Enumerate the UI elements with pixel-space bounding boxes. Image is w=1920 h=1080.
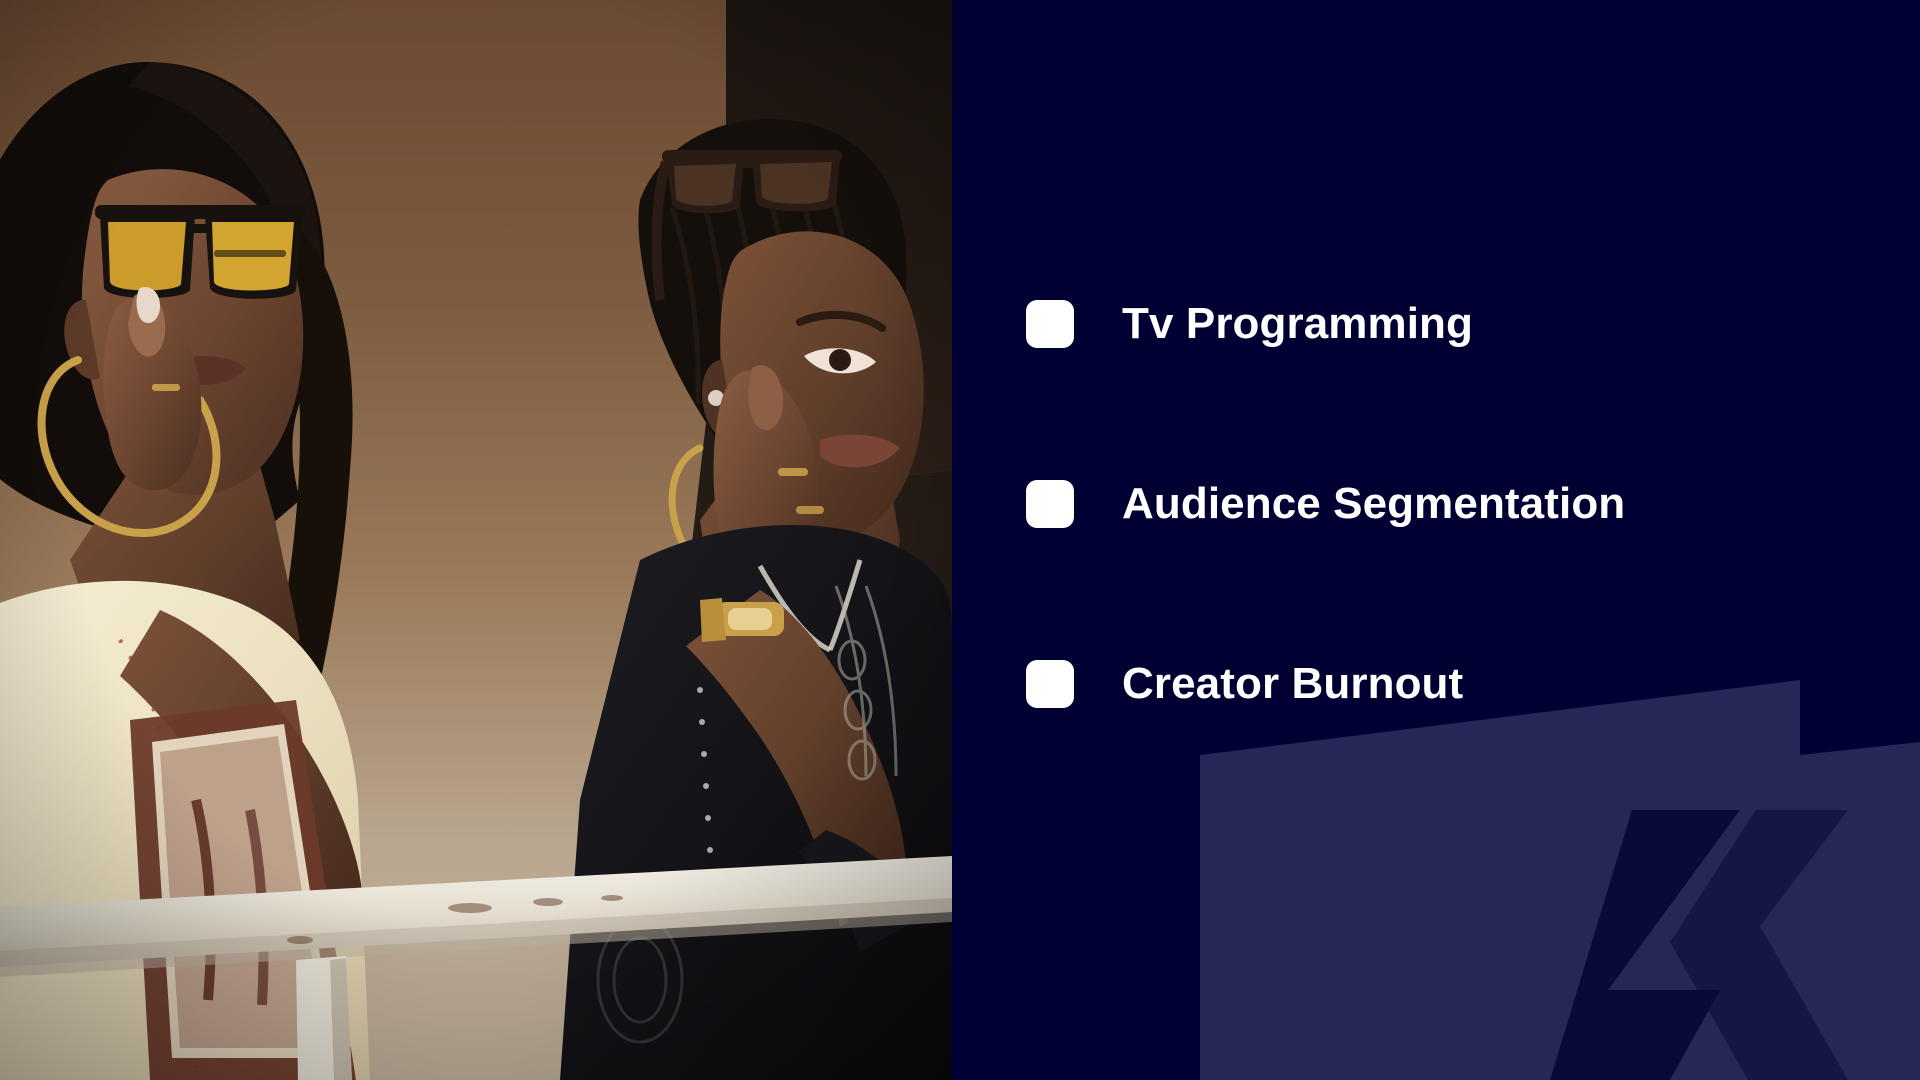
bullet-label: Tv Programming <box>1122 302 1473 346</box>
bullet-item-audience-segmentation[interactable]: Audience Segmentation <box>1026 480 1886 528</box>
square-marker-icon <box>1026 660 1074 708</box>
photo-image <box>0 0 952 1080</box>
brand-logo-watermark <box>1200 660 1920 1080</box>
watermark-shape <box>1200 660 1920 1080</box>
content-pane: Tv Programming Audience Segmentation Cre… <box>952 0 1920 1080</box>
presentation-slide: Tv Programming Audience Segmentation Cre… <box>0 0 1920 1080</box>
bullet-label: Audience Segmentation <box>1122 482 1625 526</box>
bullet-item-creator-burnout[interactable]: Creator Burnout <box>1026 660 1886 708</box>
bullet-item-tv-programming[interactable]: Tv Programming <box>1026 300 1886 348</box>
photo-pane <box>0 0 952 1080</box>
bullet-list: Tv Programming Audience Segmentation Cre… <box>1026 300 1886 708</box>
square-marker-icon <box>1026 300 1074 348</box>
bullet-label: Creator Burnout <box>1122 662 1463 706</box>
square-marker-icon <box>1026 480 1074 528</box>
